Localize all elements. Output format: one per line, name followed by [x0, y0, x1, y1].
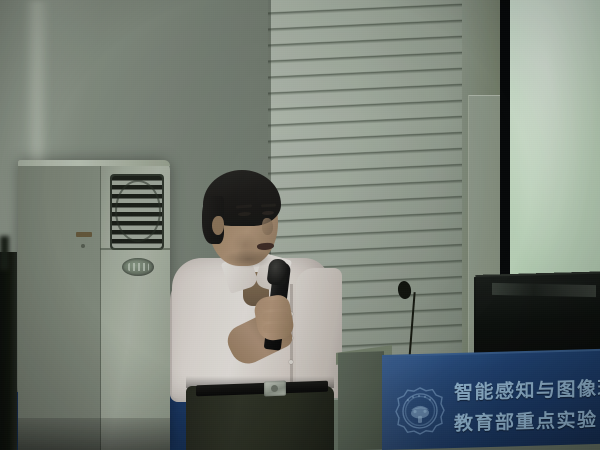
finger [263, 324, 287, 334]
banner-line-1: 智能感知与图像理 [454, 377, 600, 407]
banner-line-2: 教育部重点实验 [454, 407, 600, 439]
jaw-shading [224, 250, 272, 268]
photo-scene: 智能感知与图像理 教育部重点实验 [0, 0, 600, 450]
podium-side-panel [338, 351, 384, 450]
banner-text-block: 智能感知与图像理 教育部重点实验 [454, 377, 600, 439]
podium-banner: 智能感知与图像理 教育部重点实验 [382, 351, 600, 450]
shirt-button [289, 360, 293, 364]
handheld-microphone-head [266, 258, 288, 286]
nose [262, 218, 273, 235]
ear [212, 216, 224, 235]
university-seal-emblem [394, 385, 446, 438]
finger [262, 311, 289, 322]
belt-buckle-center [271, 385, 278, 392]
